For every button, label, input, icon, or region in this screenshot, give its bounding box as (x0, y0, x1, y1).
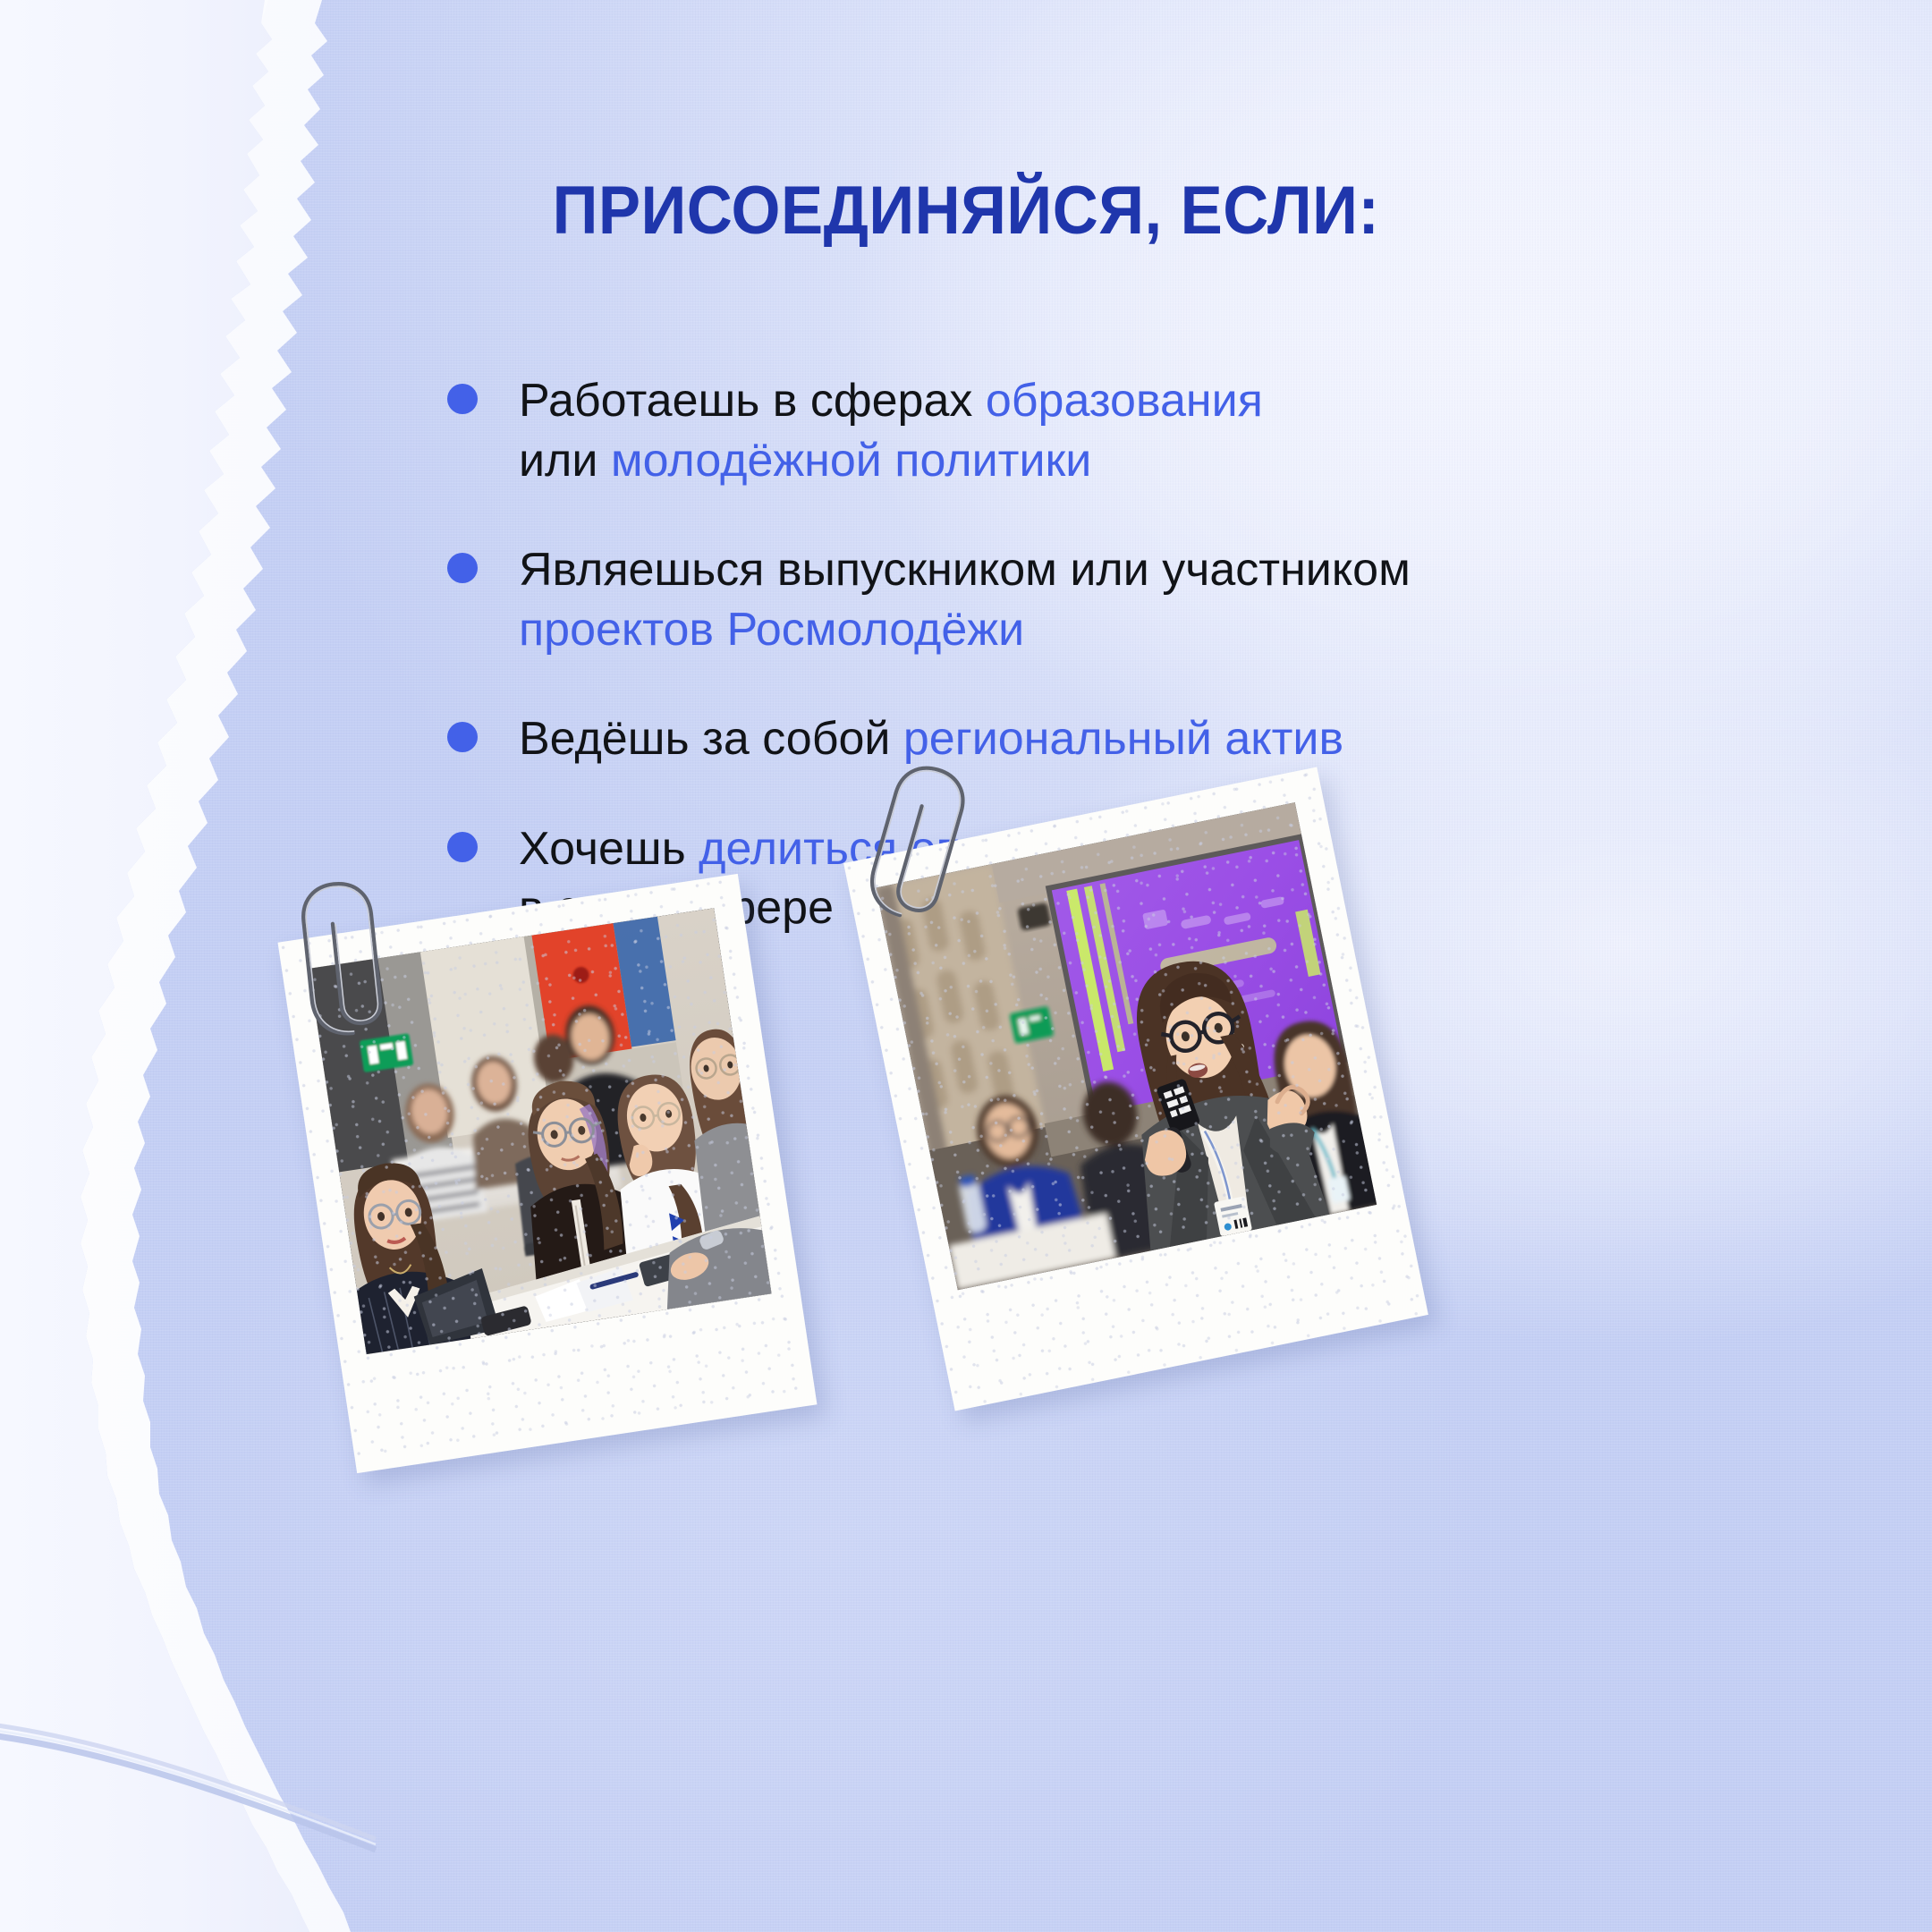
bullet-dot-icon (447, 832, 478, 862)
text-segment-highlight: проектов Росмолодёжи (519, 604, 1024, 656)
bullet-dot-icon (447, 553, 478, 583)
list-item: Работаешь в сферах образования или молод… (447, 371, 1717, 490)
list-item: Являешься выпускником или участником про… (447, 540, 1717, 659)
text-segment-highlight: региональный актив (903, 713, 1343, 765)
text-segment: или (519, 435, 611, 487)
list-item: Ведёшь за собой региональный актив (447, 709, 1717, 769)
cable (0, 1682, 501, 1896)
text-segment: Хочешь (519, 823, 699, 875)
paperclip-left-icon (287, 865, 447, 1049)
slide-canvas: ПРИСОЕДИНЯЙСЯ, ЕСЛИ: Работаешь в сферах … (0, 0, 1932, 1932)
bullet-dot-icon (447, 722, 478, 752)
list-item-text: Работаешь в сферах образования или молод… (519, 371, 1263, 490)
text-segment: Являешься выпускником или участником (519, 544, 1411, 596)
list-item-text: Являешься выпускником или участником про… (519, 540, 1411, 659)
text-segment: Работаешь в сферах (519, 375, 986, 427)
bullet-dot-icon (447, 384, 478, 414)
text-segment-highlight: образования (986, 375, 1263, 427)
page-title: ПРИСОЕДИНЯЙСЯ, ЕСЛИ: (68, 172, 1865, 250)
text-segment: Ведёшь за собой (519, 713, 903, 765)
text-segment-highlight: молодёжной политики (611, 435, 1091, 487)
